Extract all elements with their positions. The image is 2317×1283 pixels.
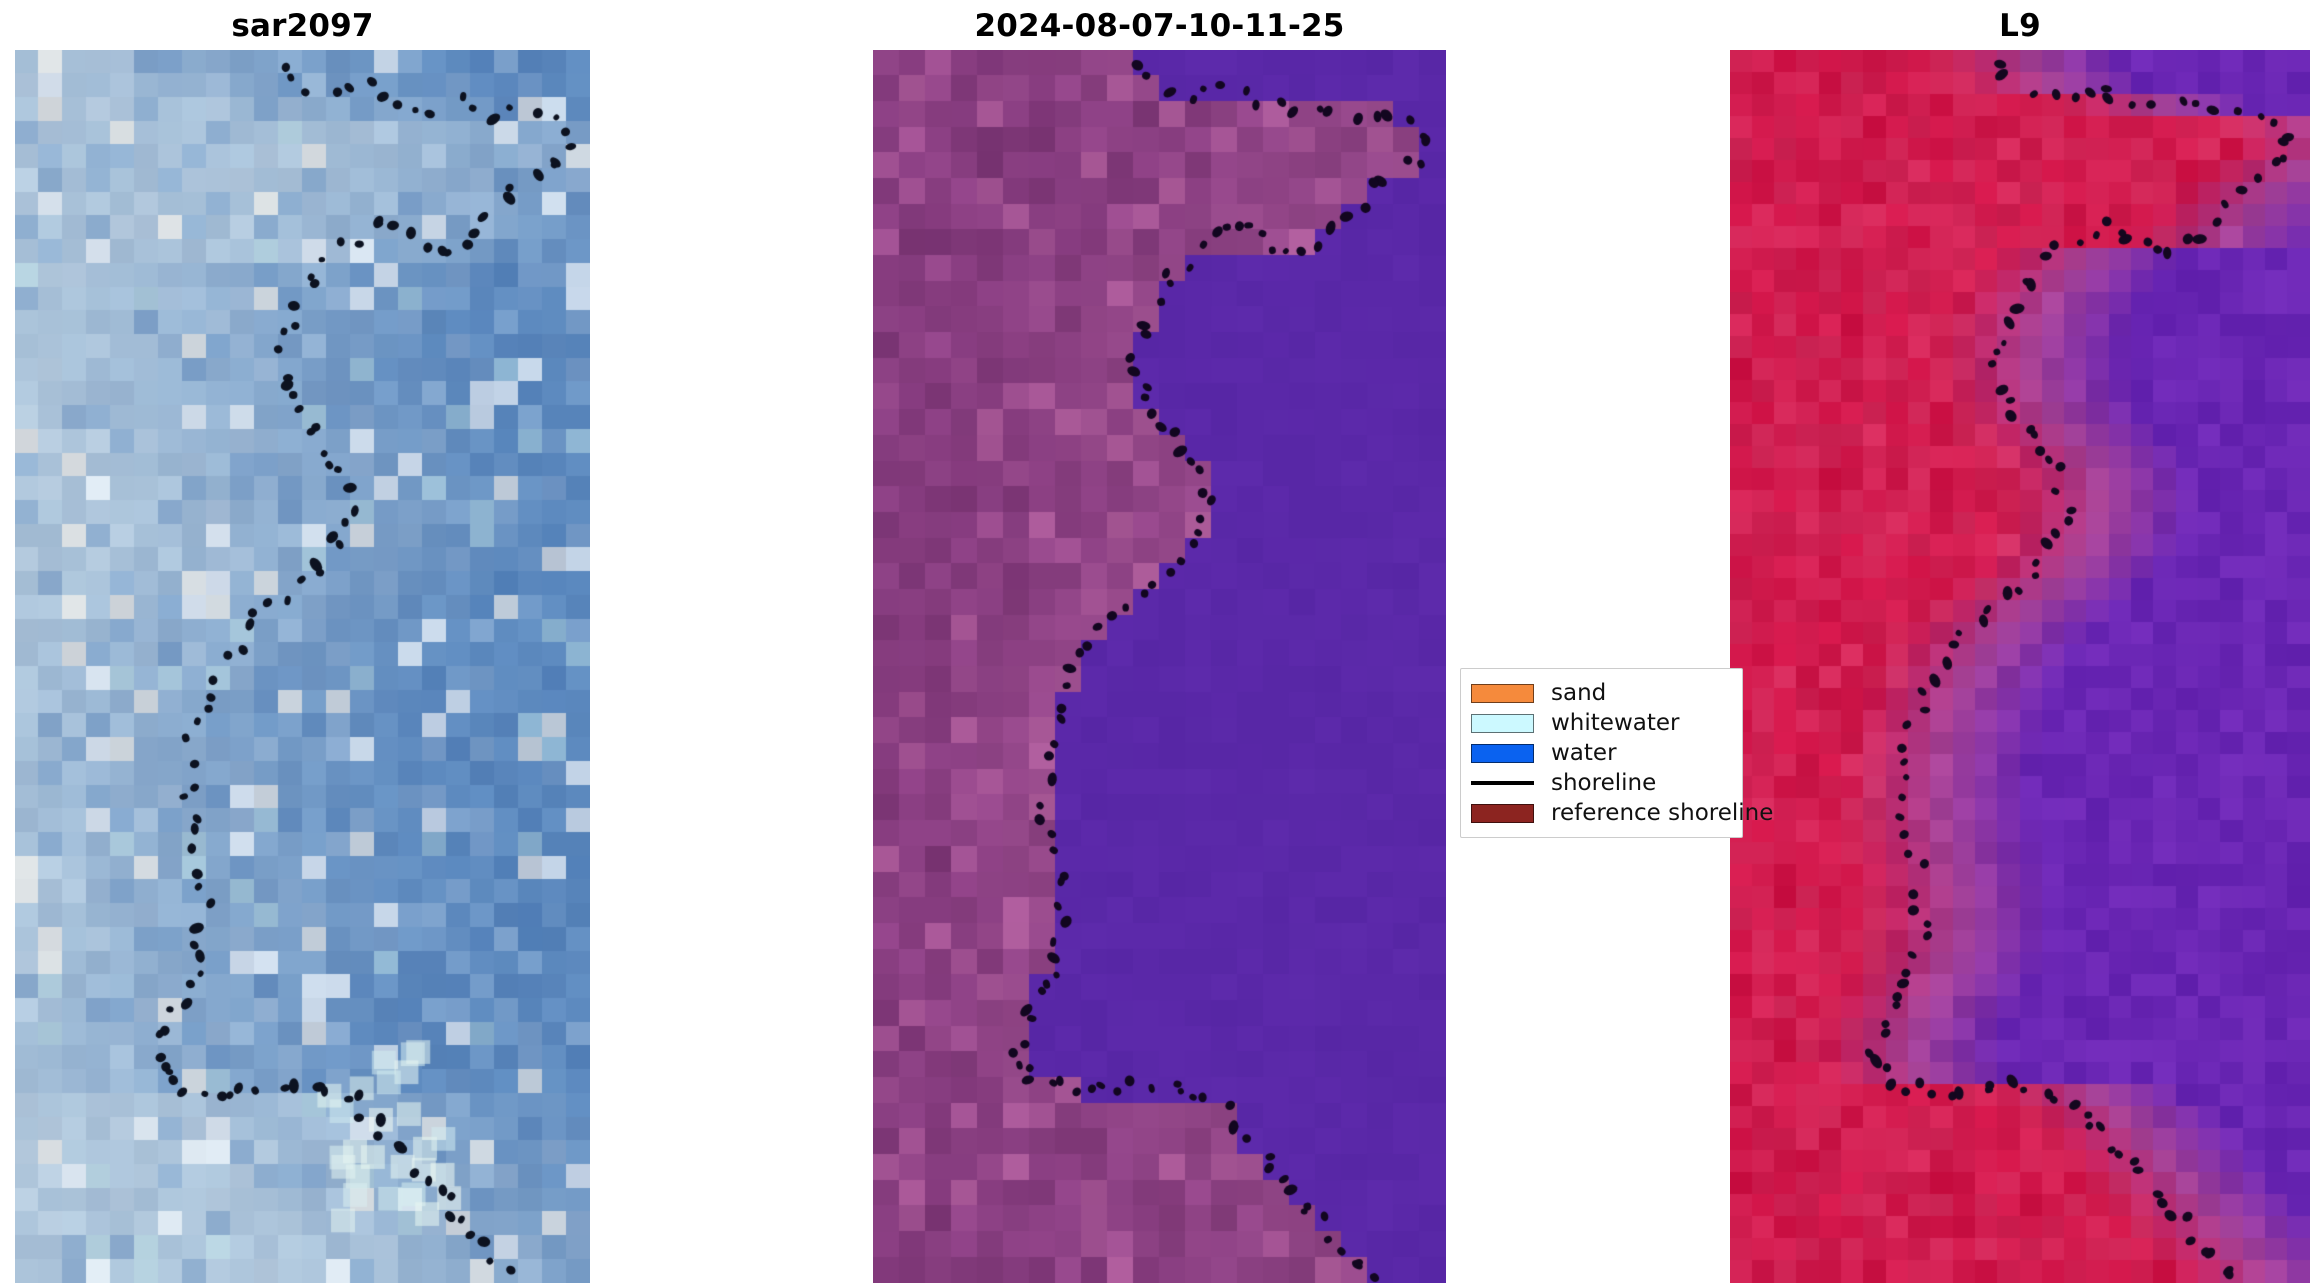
legend-item-water[interactable]: water: [1471, 738, 1732, 768]
panel-title-l9: L9: [1730, 6, 2310, 46]
legend-item-shoreline[interactable]: shoreline: [1471, 768, 1732, 798]
figure-canvas: sar2097 2024-08-07-10-11-25 L9 sand whit…: [0, 0, 2317, 1283]
sand-swatch-icon: [1471, 684, 1534, 703]
whitewater-swatch-icon: [1471, 714, 1534, 733]
shoreline-line-icon: [1471, 774, 1534, 793]
legend-item-whitewater[interactable]: whitewater: [1471, 708, 1732, 738]
legend-item-reference-shoreline[interactable]: reference shoreline: [1471, 798, 1732, 828]
panel-title-date: 2024-08-07-10-11-25: [873, 6, 1446, 46]
classified-raster: [873, 50, 1446, 1283]
legend-label-whitewater: whitewater: [1551, 710, 1679, 736]
image-panel-sar2097[interactable]: [15, 50, 590, 1283]
sar2097-raster: [15, 50, 590, 1283]
legend-label-shoreline: shoreline: [1551, 770, 1656, 796]
legend-label-reference-shoreline: reference shoreline: [1551, 800, 1773, 826]
water-swatch-icon: [1471, 744, 1534, 763]
legend-label-sand: sand: [1551, 680, 1606, 706]
legend-label-water: water: [1551, 740, 1617, 766]
legend-item-sand[interactable]: sand: [1471, 678, 1732, 708]
l9-raster: [1730, 50, 2310, 1283]
legend-box[interactable]: sand whitewater water shoreline referenc…: [1460, 668, 1743, 838]
image-panel-classified[interactable]: [873, 50, 1446, 1283]
panel-title-sar2097: sar2097: [15, 6, 590, 46]
reference-shoreline-swatch-icon: [1471, 804, 1534, 823]
image-panel-l9[interactable]: [1730, 50, 2310, 1283]
